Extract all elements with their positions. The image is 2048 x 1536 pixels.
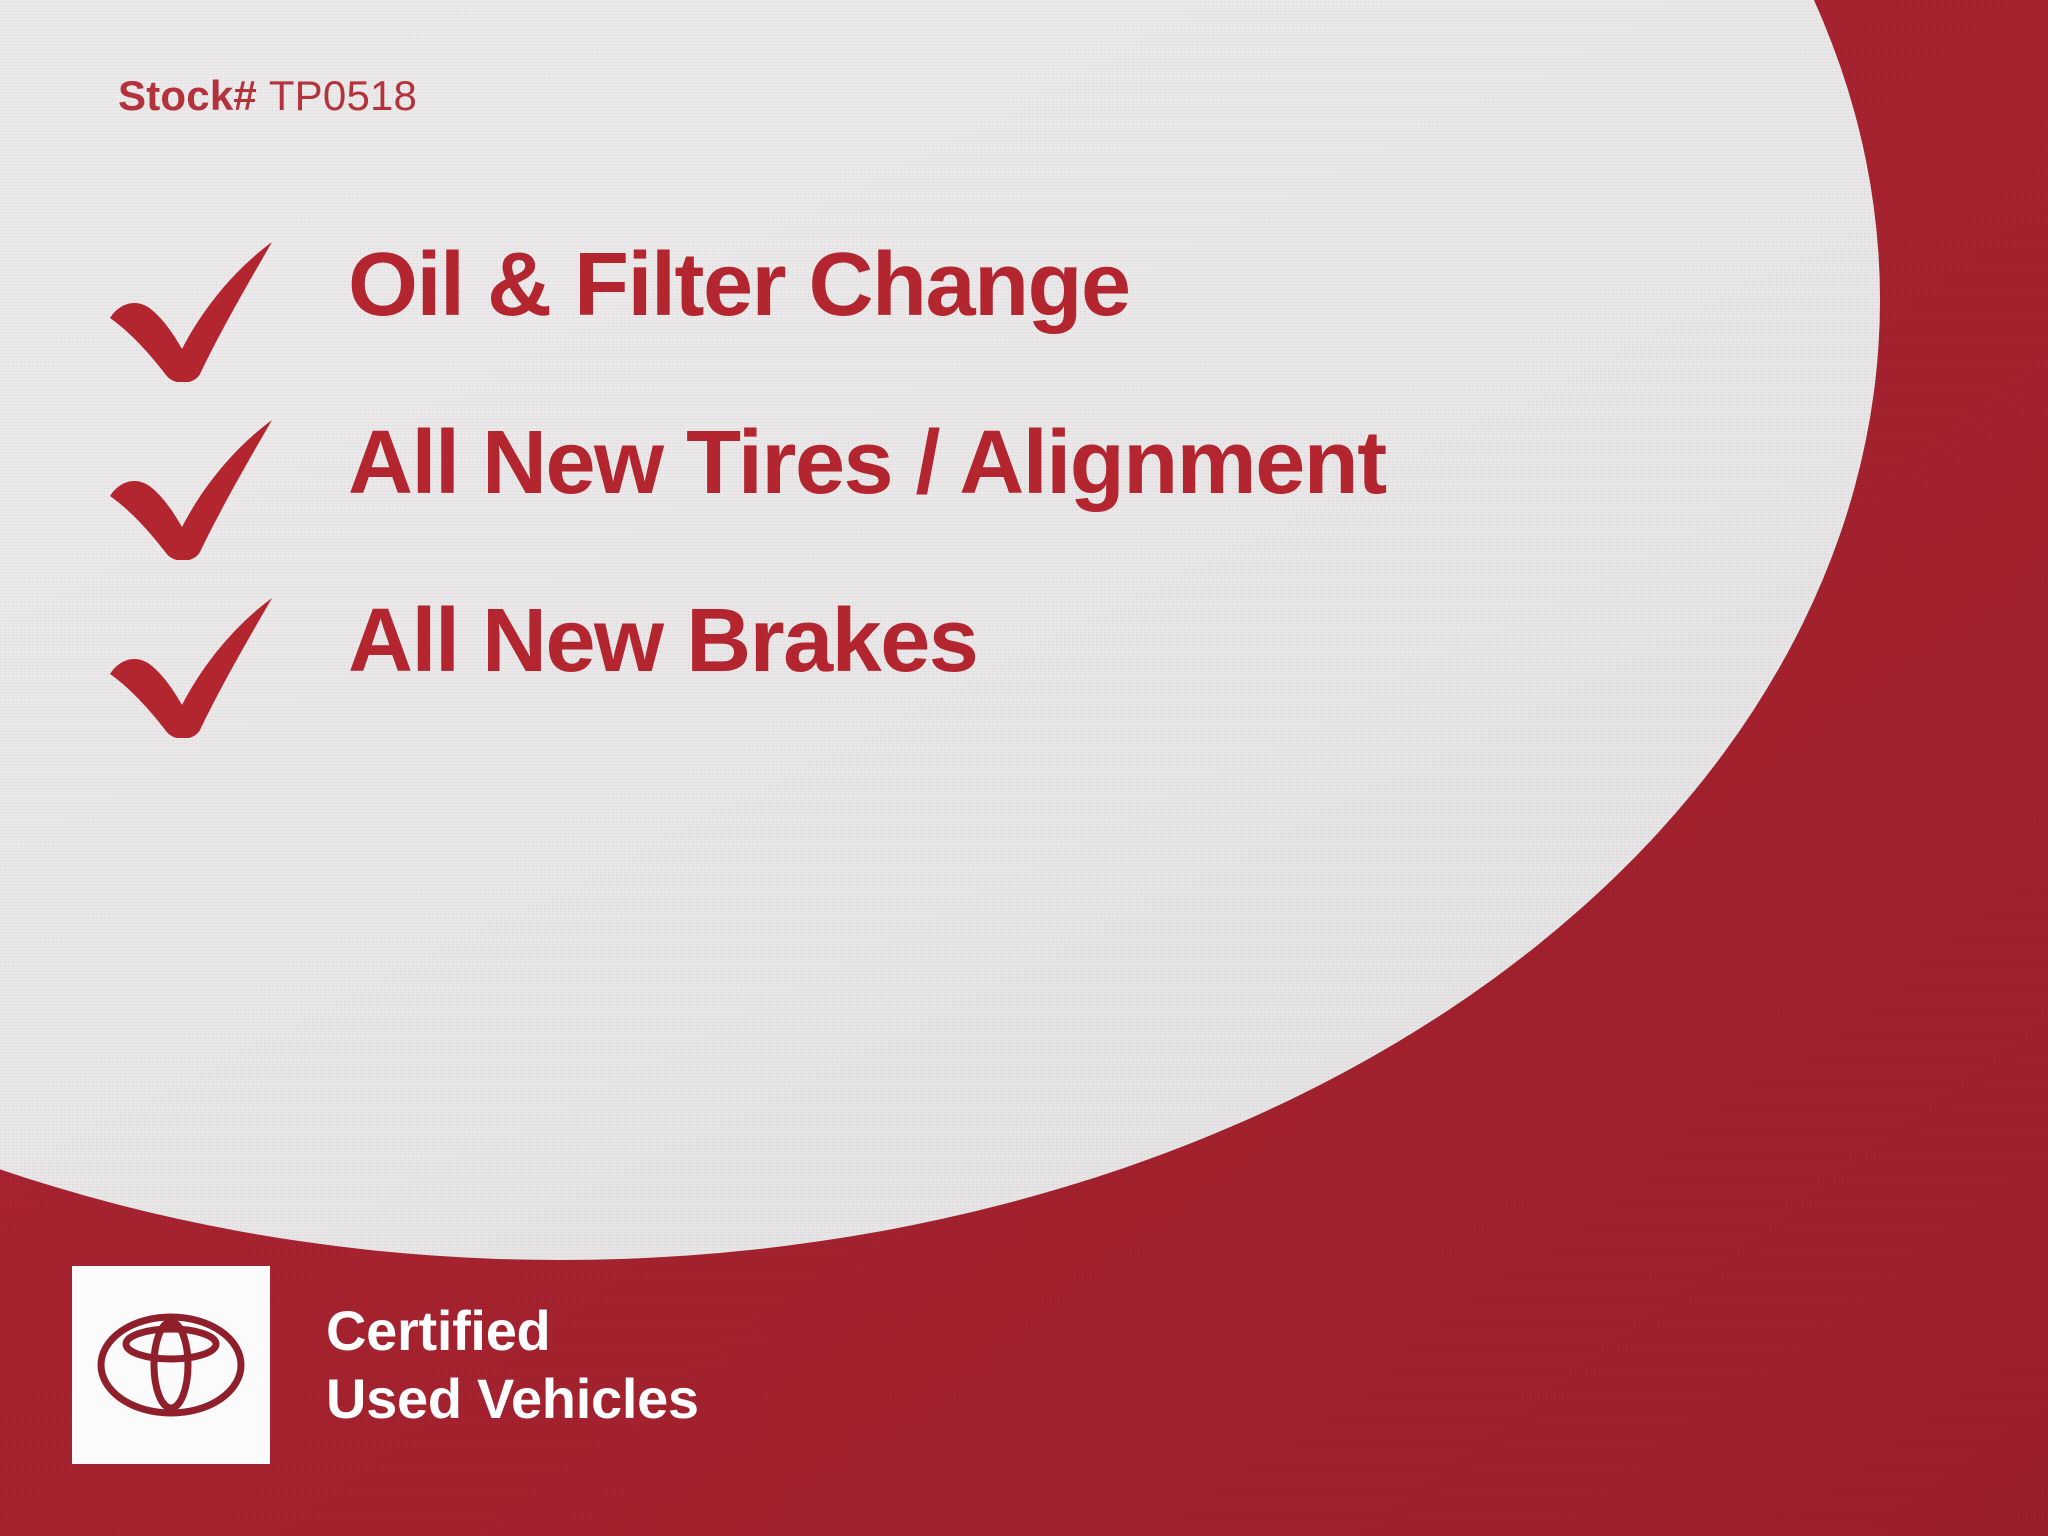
feature-label: All New Brakes <box>348 594 977 689</box>
list-item: Oil & Filter Change <box>96 232 1696 410</box>
list-item: All New Tires / Alignment <box>96 410 1696 588</box>
toyota-emblem-icon <box>96 1313 246 1417</box>
list-item: All New Brakes <box>96 588 1696 766</box>
stock-number: Stock# TP0518 <box>118 72 417 120</box>
checkmark-icon <box>96 232 286 382</box>
feature-list: Oil & Filter Change All New Tires / Alig… <box>96 232 1696 766</box>
checkmark-icon <box>96 588 286 738</box>
brand-line-2: Used Vehicles <box>326 1365 699 1433</box>
brand-line-1: Certified <box>326 1297 699 1365</box>
feature-label: Oil & Filter Change <box>348 238 1130 333</box>
banner-canvas: Stock# TP0518 Oil & Filter Change All Ne… <box>0 0 2048 1536</box>
brand-text: Certified Used Vehicles <box>326 1297 699 1434</box>
toyota-logo-tile <box>72 1266 270 1464</box>
stock-value: TP0518 <box>269 72 417 119</box>
feature-label: All New Tires / Alignment <box>348 416 1386 511</box>
brand-lockup: Certified Used Vehicles <box>72 1266 699 1464</box>
stock-label: Stock# <box>118 72 257 119</box>
checkmark-icon <box>96 410 286 560</box>
